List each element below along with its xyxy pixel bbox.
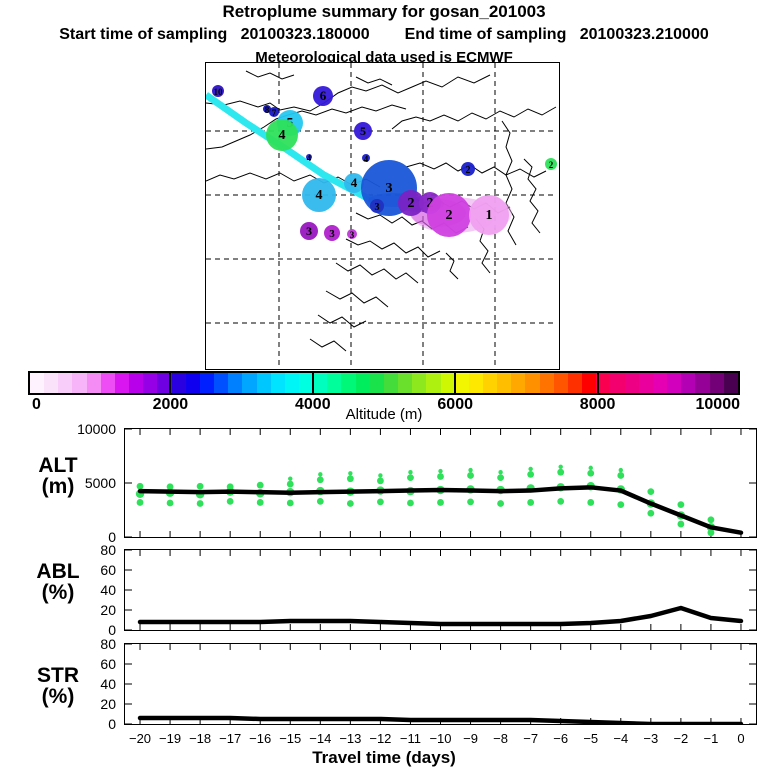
colorbar-segment (398, 373, 412, 393)
colorbar-segment (313, 373, 327, 393)
colorbar-segment (101, 373, 115, 393)
str-plot-panel[interactable] (124, 643, 757, 725)
plume-bubble: 4 (302, 178, 336, 212)
plume-bubble-label: 1 (486, 208, 493, 223)
colorbar-segment (44, 373, 58, 393)
plume-bubble-label: 3 (306, 224, 312, 238)
mean-line (140, 608, 741, 624)
y-tick-label: 60 (64, 562, 116, 578)
alt-scatter-point (348, 471, 352, 475)
alt-scatter-point (589, 466, 593, 470)
alt-scatter-point (497, 500, 504, 507)
colorbar-divider (169, 371, 171, 395)
plume-bubble: 3 (300, 222, 318, 240)
y-tick-label: 60 (64, 656, 116, 672)
colorbar-segment (455, 373, 469, 393)
colorbar-segment (186, 373, 200, 393)
colorbar-segment (525, 373, 539, 393)
plume-bubble: 2 (427, 193, 471, 237)
plume-bubble-label: 10 (214, 87, 224, 97)
colorbar-segment (582, 373, 596, 393)
y-tick-label: 0 (64, 716, 116, 732)
colorbar-segment (568, 373, 582, 393)
alt-scatter-point (468, 468, 472, 472)
alt-scatter-point (317, 498, 324, 505)
x-tick-label: −9 (463, 731, 478, 746)
colorbar-segment (242, 373, 256, 393)
y-tick-label: 20 (64, 696, 116, 712)
colorbar-segment (540, 373, 554, 393)
alt-scatter-point (557, 498, 564, 505)
abl-plot-panel[interactable] (124, 549, 757, 631)
colorbar-divider (597, 371, 599, 395)
plume-bubble: 3 (324, 225, 340, 241)
plume-bubble: 2 (545, 158, 557, 170)
alt-scatter-point (407, 474, 414, 481)
alt-scatter-point (527, 499, 534, 506)
alt-scatter-point (677, 521, 684, 528)
colorbar-segment (341, 373, 355, 393)
plume-bubble-label: 8 (265, 105, 270, 115)
alt-scatter-point (437, 499, 444, 506)
y-tick-label: 40 (64, 582, 116, 598)
plume-bubble-label: 3 (350, 230, 355, 240)
alt-scatter-point (677, 501, 684, 508)
colorbar-segment (30, 373, 44, 393)
alt-scatter-point (497, 474, 504, 481)
y-tick-label: 20 (64, 602, 116, 618)
alt-scatter-point (377, 499, 384, 506)
plume-bubble: 10 (212, 85, 224, 97)
plume-bubble: 3 (347, 229, 357, 240)
plume-bubble-label: 4 (307, 153, 312, 163)
alt-plot-canvas (125, 429, 756, 537)
x-tick-labels: −20−19−18−17−16−15−14−13−12−11−10−9−8−7−… (0, 731, 768, 749)
colorbar-segment (214, 373, 228, 393)
plume-bubble-label: 4 (316, 188, 323, 203)
alt-scatter-point (347, 475, 354, 482)
x-tick-label: −10 (429, 731, 451, 746)
colorbar-segment (285, 373, 299, 393)
x-tick-label: −14 (309, 731, 331, 746)
alt-scatter-point (647, 510, 654, 517)
plume-bubble: 4 (266, 119, 298, 151)
colorbar-divider (454, 371, 456, 395)
end-time-value: 20100323.210000 (580, 26, 709, 44)
x-tick-label: −1 (704, 731, 719, 746)
alt-scatter-point (467, 472, 474, 479)
colorbar-segment (257, 373, 271, 393)
y-tick-label: 80 (64, 542, 116, 558)
plume-bubble: 4 (344, 173, 364, 193)
colorbar-segment (625, 373, 639, 393)
start-time-value: 20100323.180000 (241, 26, 370, 44)
colorbar-segment (356, 373, 370, 393)
alt-scatter-point (257, 499, 264, 506)
x-tick-label: −2 (673, 731, 688, 746)
y-tick-label: 5000 (64, 475, 116, 491)
retroplume-summary-page: Retroplume summary for gosan_201003 Star… (0, 0, 768, 768)
alt-scatter-point (408, 470, 412, 474)
colorbar-segment (129, 373, 143, 393)
colorbar-segment (412, 373, 426, 393)
colorbar-segment (554, 373, 568, 393)
altitude-colorbar: 0200040006000800010000 (28, 371, 740, 395)
alt-scatter-point (527, 471, 534, 478)
alt-scatter-point (167, 483, 174, 490)
x-tick-label: −7 (523, 731, 538, 746)
colorbar-segment (710, 373, 724, 393)
plume-bubble-label: 5 (360, 124, 366, 138)
alt-scatter-point (347, 500, 354, 507)
colorbar-segment (327, 373, 341, 393)
colorbar-segment (610, 373, 624, 393)
retroplume-map-panel[interactable]: 10654578444423322213332 (205, 62, 560, 370)
alt-scatter-point (288, 476, 292, 480)
alt-scatter-point (287, 500, 294, 507)
alt-scatter-point (587, 499, 594, 506)
plume-bubble-label: 4 (364, 154, 369, 164)
alt-scatter-point (438, 469, 442, 473)
start-time-label: Start time of sampling (59, 26, 227, 44)
x-tick-label: −8 (493, 731, 508, 746)
colorbar-segment (72, 373, 86, 393)
colorbar-segment (653, 373, 667, 393)
alt-scatter-point (558, 465, 562, 469)
page-title: Retroplume summary for gosan_201003 (0, 2, 768, 22)
colorbar-segment (384, 373, 398, 393)
str-plot-canvas (125, 644, 756, 724)
plume-bubble-label: 2 (446, 208, 453, 223)
colorbar-gradient (28, 371, 740, 395)
x-tick-label: −15 (279, 731, 301, 746)
x-tick-label: −19 (159, 731, 181, 746)
x-tick-label: −20 (129, 731, 151, 746)
end-time-label: End time of sampling (405, 26, 567, 44)
colorbar-segment (695, 373, 709, 393)
alt-scatter-point (407, 500, 414, 507)
alt-scatter-point (287, 481, 294, 488)
alt-scatter-point (257, 482, 264, 489)
alt-scatter-point (317, 476, 324, 483)
alt-scatter-point (617, 472, 624, 479)
x-tick-label: −18 (189, 731, 211, 746)
alt-scatter-point (557, 469, 564, 476)
plume-bubble-label: 3 (386, 181, 393, 196)
abl-plot-canvas (125, 550, 756, 630)
alt-scatter-point (708, 516, 715, 523)
plume-bubble: 4 (306, 153, 312, 163)
colorbar-segment (724, 373, 738, 393)
colorbar-segment (681, 373, 695, 393)
x-tick-label: −11 (400, 731, 421, 746)
plume-bubble: 3 (370, 199, 384, 213)
alt-plot-panel[interactable] (124, 428, 757, 538)
colorbar-segment (639, 373, 653, 393)
alt-scatter-point (167, 500, 174, 507)
colorbar-segment (172, 373, 186, 393)
y-tick-label: 10000 (64, 421, 116, 437)
colorbar-segment (87, 373, 101, 393)
plume-bubble: 5 (354, 122, 372, 140)
colorbar-divider (312, 371, 314, 395)
plume-bubble: 6 (313, 86, 333, 106)
colorbar-segment (441, 373, 455, 393)
alt-scatter-point (137, 499, 144, 506)
plume-bubble-label: 2 (408, 196, 415, 211)
plume-bubble-label: 4 (279, 128, 286, 143)
alt-scatter-point (227, 483, 234, 490)
alt-scatter-point (619, 468, 623, 472)
colorbar-segment (497, 373, 511, 393)
alt-scatter-point (528, 467, 532, 471)
alt-scatter-point (467, 499, 474, 506)
alt-scatter-point (137, 483, 144, 490)
colorbar-segment (370, 373, 384, 393)
colorbar-segment (115, 373, 129, 393)
x-tick-label: −12 (369, 731, 391, 746)
colorbar-segment (426, 373, 440, 393)
x-tick-label: −6 (553, 731, 568, 746)
plume-bubble: 2 (461, 162, 475, 176)
plume-bubble-label: 7 (272, 108, 277, 118)
colorbar-segment (511, 373, 525, 393)
plume-bubble: 1 (469, 195, 509, 235)
alt-scatter-point (197, 500, 204, 507)
x-tick-label: −5 (583, 731, 598, 746)
x-tick-label: −17 (219, 731, 241, 746)
sampling-time-row: Start time of sampling 20100323.180000 E… (0, 26, 768, 44)
alt-scatter-point (437, 473, 444, 480)
colorbar-segment (667, 373, 681, 393)
colorbar-segment (200, 373, 214, 393)
plume-bubble-label: 2 (466, 165, 471, 176)
x-tick-label: −16 (249, 731, 271, 746)
alt-scatter-point (377, 477, 384, 484)
x-tick-label: −13 (339, 731, 361, 746)
plume-bubble-label: 2 (549, 160, 554, 170)
plume-bubble: 4 (362, 154, 370, 164)
x-tick-label: −3 (643, 731, 658, 746)
colorbar-segment (271, 373, 285, 393)
alt-scatter-point (587, 470, 594, 477)
y-tick-label: 40 (64, 676, 116, 692)
plume-bubble-label: 3 (375, 202, 380, 213)
alt-scatter-point (197, 483, 204, 490)
plume-bubble-label: 4 (351, 175, 358, 190)
alt-scatter-point (227, 498, 234, 505)
alt-scatter-point (647, 488, 654, 495)
colorbar-segment (469, 373, 483, 393)
colorbar-segment (483, 373, 497, 393)
map-canvas: 10654578444423322213332 (206, 63, 557, 367)
colorbar-segment (58, 373, 72, 393)
colorbar-segment (228, 373, 242, 393)
x-axis-label: Travel time (days) (0, 748, 768, 768)
alt-scatter-point (498, 470, 502, 474)
alt-scatter-point (318, 472, 322, 476)
alt-scatter-point (378, 473, 382, 477)
plume-bubble-label: 6 (320, 88, 327, 103)
y-tick-label: 80 (64, 636, 116, 652)
alt-scatter-point (617, 501, 624, 508)
x-tick-label: 0 (737, 731, 744, 746)
plume-bubble-label: 3 (329, 228, 335, 240)
colorbar-segment (143, 373, 157, 393)
x-tick-label: −4 (613, 731, 628, 746)
